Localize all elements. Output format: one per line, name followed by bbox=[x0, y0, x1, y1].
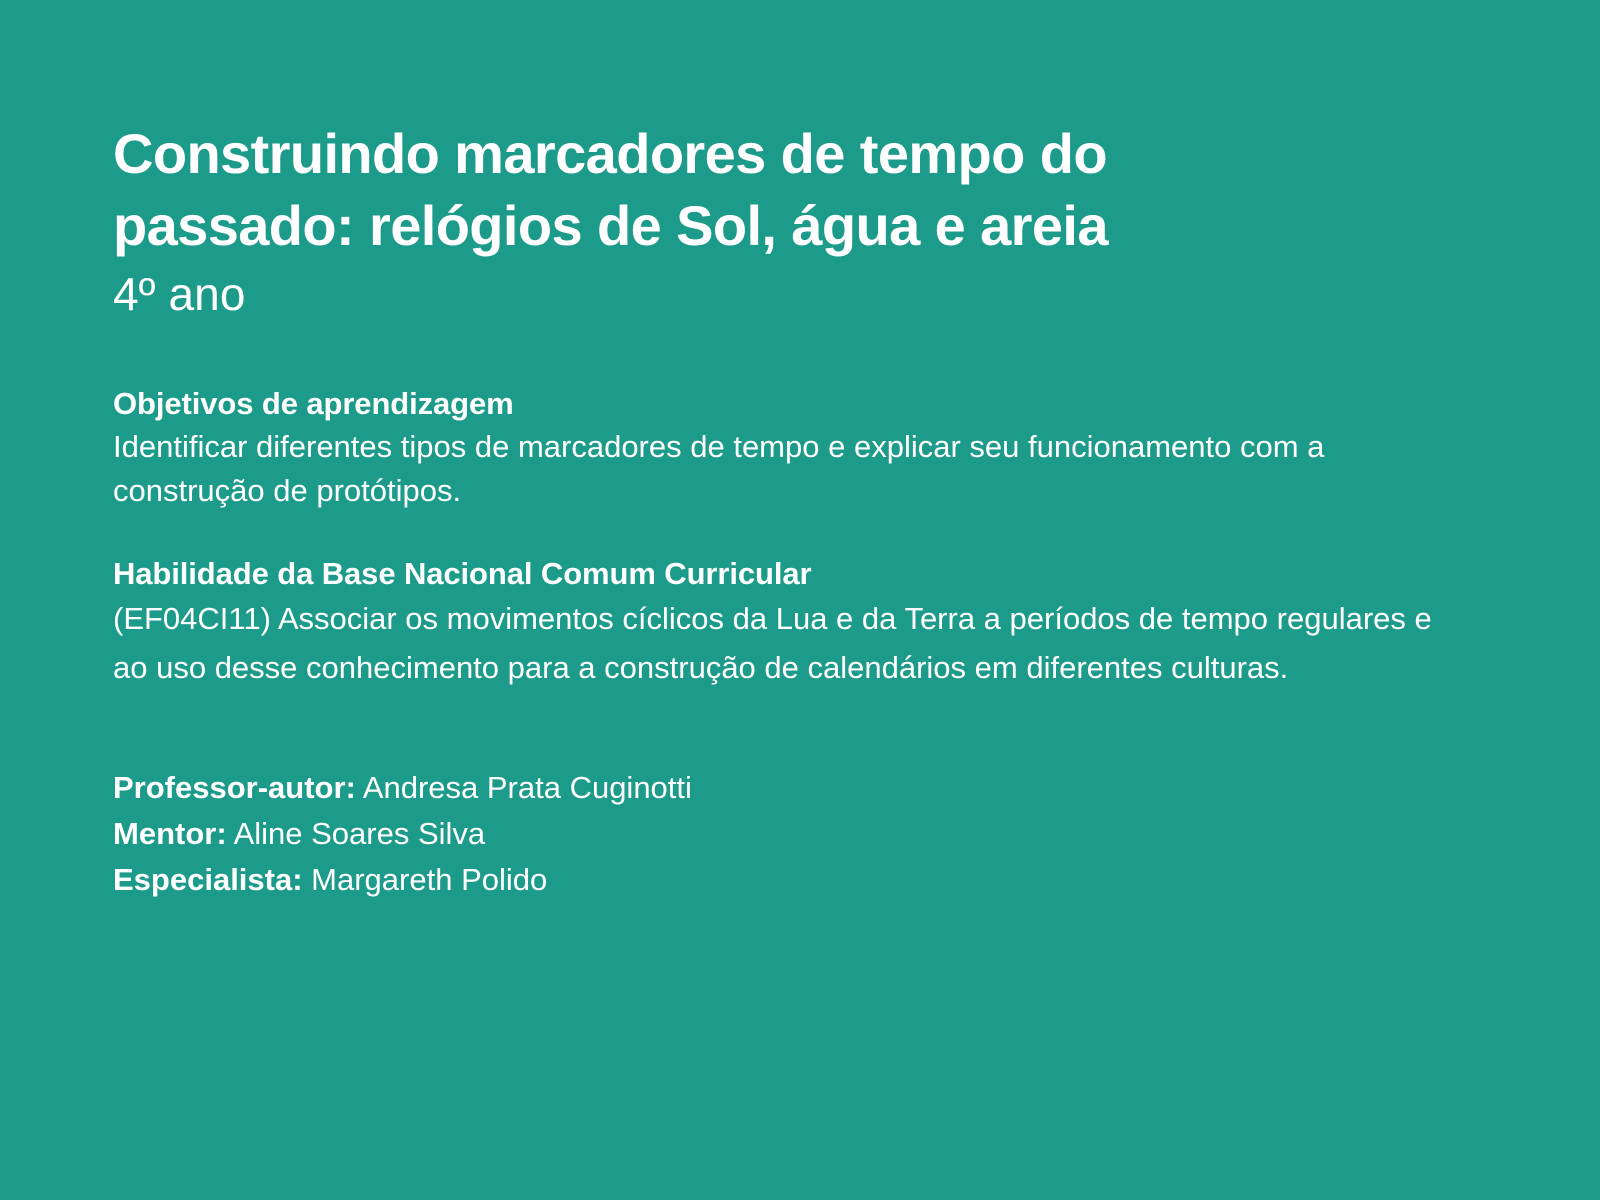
credit-label-especialista: Especialista: bbox=[113, 862, 303, 897]
learning-objectives-heading: Objetivos de aprendizagem bbox=[113, 383, 1453, 425]
page-subtitle-grade: 4º ano bbox=[113, 265, 1453, 325]
credit-label-mentor: Mentor: bbox=[113, 816, 227, 851]
section-bncc-skill: Habilidade da Base Nacional Comum Curric… bbox=[113, 553, 1453, 693]
learning-objectives-body: Identificar diferentes tipos de marcador… bbox=[113, 425, 1453, 513]
slide-content: Construindo marcadores de tempo do passa… bbox=[113, 118, 1453, 902]
credits-block: Professor-autor: Andresa Prata Cuginotti… bbox=[113, 765, 1453, 903]
credit-name-mentor: Aline Soares Silva bbox=[234, 816, 486, 851]
credit-name-professor-autor: Andresa Prata Cuginotti bbox=[363, 770, 692, 805]
credit-row: Especialista: Margareth Polido bbox=[113, 857, 1453, 903]
credit-row: Mentor: Aline Soares Silva bbox=[113, 811, 1453, 857]
bncc-skill-heading: Habilidade da Base Nacional Comum Curric… bbox=[113, 553, 1453, 595]
section-learning-objectives: Objetivos de aprendizagem Identificar di… bbox=[113, 383, 1453, 513]
page-title: Construindo marcadores de tempo do passa… bbox=[113, 118, 1293, 261]
credit-row: Professor-autor: Andresa Prata Cuginotti bbox=[113, 765, 1453, 811]
title-block: Construindo marcadores de tempo do passa… bbox=[113, 118, 1453, 325]
credit-name-especialista: Margareth Polido bbox=[311, 862, 547, 897]
credit-label-professor-autor: Professor-autor: bbox=[113, 770, 356, 805]
bncc-skill-body: (EF04CI11) Associar os movimentos cíclic… bbox=[113, 595, 1453, 693]
slide-root: Construindo marcadores de tempo do passa… bbox=[0, 0, 1600, 1200]
